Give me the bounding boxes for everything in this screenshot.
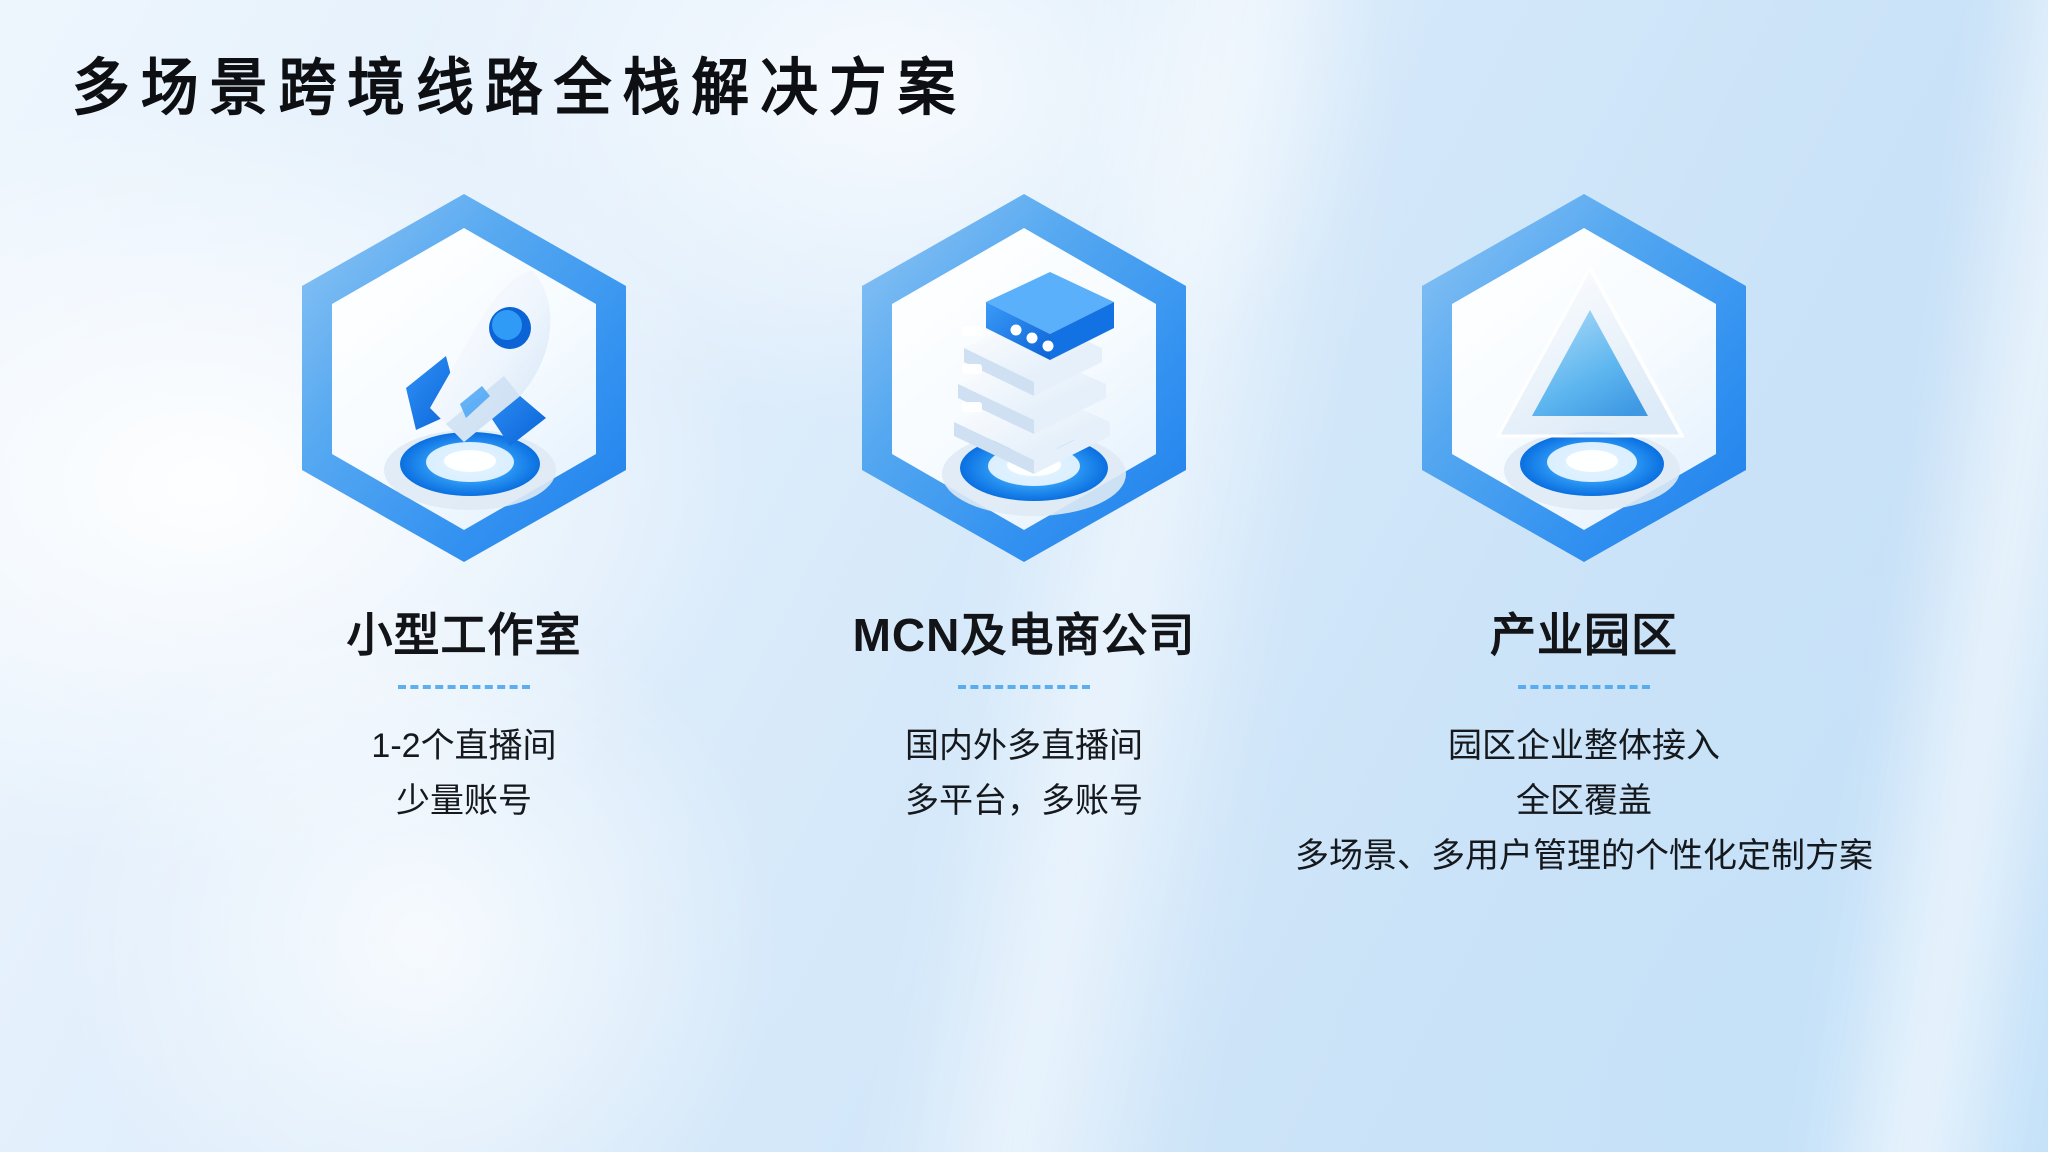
page-title: 多场景跨境线路全栈解决方案 — [72, 56, 967, 121]
hex-badge-3 — [1394, 178, 1774, 598]
desc-line: 园区企业整体接入 — [1295, 719, 1873, 774]
rocket-icon — [274, 178, 654, 598]
card-title: 小型工作室 — [347, 608, 582, 663]
desc-line: 少量账号 — [371, 774, 556, 829]
dashed-divider — [1518, 685, 1650, 689]
dashed-divider — [398, 685, 530, 689]
scenario-card-mcn-ecommerce[interactable]: MCN及电商公司 国内外多直播间 多平台，多账号 — [744, 178, 1304, 829]
desc-line: 多平台，多账号 — [905, 774, 1143, 829]
hex-badge-2 — [834, 178, 1214, 598]
scenario-card-small-studio[interactable]: 小型工作室 1-2个直播间 少量账号 — [184, 178, 744, 829]
server-stack-icon — [834, 178, 1214, 598]
card-title: MCN及电商公司 — [853, 608, 1196, 663]
card-title: 产业园区 — [1490, 608, 1678, 663]
desc-line: 1-2个直播间 — [371, 719, 556, 774]
scenario-card-industrial-park[interactable]: 产业园区 园区企业整体接入 全区覆盖 多场景、多用户管理的个性化定制方案 — [1304, 178, 1864, 884]
dashed-divider — [958, 685, 1090, 689]
hex-badge-1 — [274, 178, 654, 598]
desc-line: 多场景、多用户管理的个性化定制方案 — [1295, 829, 1873, 884]
slide-canvas: 多场景跨境线路全栈解决方案 — [0, 0, 2048, 1152]
pyramid-icon — [1394, 178, 1774, 598]
card-description: 国内外多直播间 多平台，多账号 — [905, 719, 1143, 829]
desc-line: 全区覆盖 — [1295, 774, 1873, 829]
card-description: 1-2个直播间 少量账号 — [371, 719, 556, 829]
card-description: 园区企业整体接入 全区覆盖 多场景、多用户管理的个性化定制方案 — [1295, 719, 1873, 884]
desc-line: 国内外多直播间 — [905, 719, 1143, 774]
scenario-card-row: 小型工作室 1-2个直播间 少量账号 — [0, 178, 2048, 884]
